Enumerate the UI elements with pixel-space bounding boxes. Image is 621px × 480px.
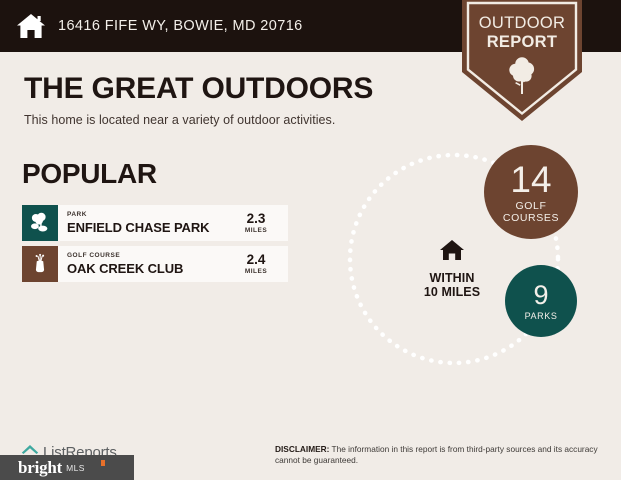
distance-unit: MILES bbox=[245, 267, 267, 276]
distance-value: 2.4 bbox=[247, 253, 266, 267]
radius-label: WITHIN 10 MILES bbox=[402, 238, 502, 299]
list-item-distance: 2.4 MILES bbox=[230, 246, 288, 282]
disclaimer: DISCLAIMER: The information in this repo… bbox=[275, 444, 605, 466]
stat-label: PARKS bbox=[525, 311, 558, 321]
page-subtitle: This home is located near a variety of o… bbox=[24, 113, 335, 127]
distance-value: 2.3 bbox=[247, 212, 266, 226]
property-address: 16416 FIFE WY, BOWIE, MD 20716 bbox=[58, 18, 303, 34]
list-item-category: PARK bbox=[67, 211, 230, 219]
stat-label-line-2: COURSES bbox=[503, 212, 559, 224]
stat-label: GOLF COURSES bbox=[503, 200, 559, 224]
disclaimer-label: DISCLAIMER: bbox=[275, 444, 329, 454]
list-item[interactable]: PARK ENFIELD CHASE PARK 2.3 MILES bbox=[22, 205, 288, 241]
stat-value: 14 bbox=[510, 161, 551, 198]
park-tile bbox=[22, 205, 58, 241]
stat-label-line-1: PARKS bbox=[525, 311, 558, 321]
outdoor-report-badge: OUTDOOR REPORT bbox=[462, 0, 582, 122]
bright-mls-sub: MLS bbox=[66, 463, 85, 473]
stat-circle-parks: 9 PARKS bbox=[505, 265, 577, 337]
outdoor-report-page: 16416 FIFE WY, BOWIE, MD 20716 OUTDOOR R… bbox=[0, 0, 621, 480]
park-tree-icon bbox=[28, 211, 52, 235]
badge-title: OUTDOOR REPORT bbox=[462, 14, 582, 52]
badge-line-2: REPORT bbox=[462, 33, 582, 52]
stat-circle-golf-courses: 14 GOLF COURSES bbox=[484, 145, 578, 239]
list-item-category: GOLF COURSE bbox=[67, 252, 230, 260]
popular-heading: POPULAR bbox=[22, 158, 157, 190]
badge-line-1: OUTDOOR bbox=[479, 14, 565, 32]
distance-unit: MILES bbox=[245, 226, 267, 235]
bright-accent-mark bbox=[101, 460, 105, 466]
list-item-meta: PARK ENFIELD CHASE PARK bbox=[58, 205, 230, 241]
home-icon bbox=[402, 238, 502, 267]
radius-line-1: WITHIN bbox=[402, 271, 502, 285]
list-item-meta: GOLF COURSE OAK CREEK CLUB bbox=[58, 246, 230, 282]
popular-list: PARK ENFIELD CHASE PARK 2.3 MILES bbox=[22, 205, 288, 287]
list-item-name: ENFIELD CHASE PARK bbox=[67, 220, 230, 235]
list-item[interactable]: GOLF COURSE OAK CREEK CLUB 2.4 MILES bbox=[22, 246, 288, 282]
stat-label-line-1: GOLF bbox=[503, 200, 559, 212]
golf-bag-icon bbox=[28, 252, 52, 276]
home-icon bbox=[16, 12, 46, 40]
list-item-name: OAK CREEK CLUB bbox=[67, 261, 230, 276]
stat-value: 9 bbox=[533, 282, 548, 309]
bright-mls-watermark: bright MLS bbox=[0, 455, 134, 480]
bright-name: bright bbox=[18, 458, 62, 478]
golf-tile bbox=[22, 246, 58, 282]
radius-line-2: 10 MILES bbox=[402, 285, 502, 299]
list-item-distance: 2.3 MILES bbox=[230, 205, 288, 241]
page-title: THE GREAT OUTDOORS bbox=[24, 72, 373, 106]
